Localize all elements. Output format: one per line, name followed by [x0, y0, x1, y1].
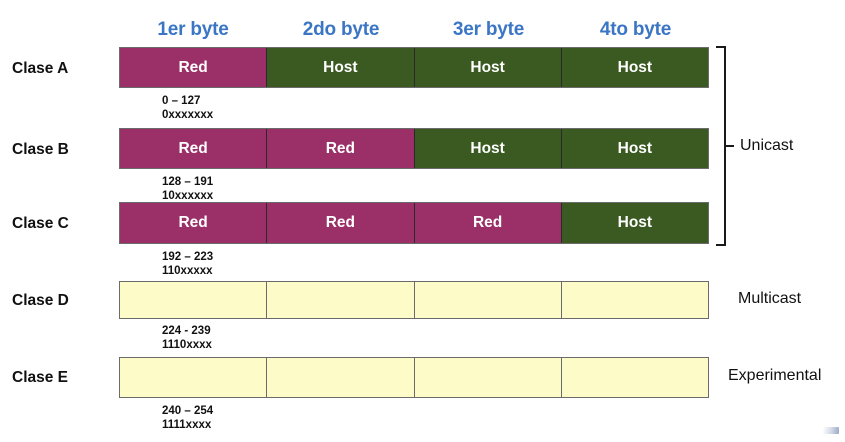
segment-a-3: Host [415, 48, 562, 87]
category-label-unicast: Unicast [740, 137, 793, 155]
range-a: 0 – 127 [162, 94, 213, 108]
class-label-a: Clase A [12, 60, 112, 78]
class-bar-d [119, 281, 709, 319]
binary-prefix-b: 10xxxxxx [162, 189, 213, 203]
bracket-tick [725, 145, 734, 147]
segment-e-1 [120, 358, 267, 397]
corner-artifact [823, 427, 839, 434]
segment-c-3: Red [415, 203, 562, 243]
class-label-b: Clase B [12, 141, 112, 159]
segment-d-2 [267, 282, 414, 318]
segment-b-1: Red [120, 129, 267, 168]
segment-b-4: Host [562, 129, 708, 168]
class-label-d: Clase D [12, 292, 112, 310]
ip-address-class-diagram: 1er byte 2do byte 3er byte 4to byte Clas… [0, 0, 845, 442]
segment-e-4 [562, 358, 708, 397]
segment-c-2: Red [267, 203, 414, 243]
class-bar-b: Red Red Host Host [119, 128, 709, 169]
byte-header-1: 1er byte [119, 18, 267, 42]
range-d: 224 - 239 [162, 324, 212, 338]
range-e: 240 – 254 [162, 404, 213, 418]
segment-b-3: Host [415, 129, 562, 168]
range-note-d: 224 - 239 1110xxxx [162, 324, 212, 352]
segment-d-3 [415, 282, 562, 318]
range-note-e: 240 – 254 1111xxxx [162, 404, 213, 432]
class-bar-c: Red Red Red Host [119, 202, 709, 244]
segment-a-1: Red [120, 48, 267, 87]
range-note-a: 0 – 127 0xxxxxxx [162, 94, 213, 122]
segment-e-3 [415, 358, 562, 397]
bracket-arm-bottom [716, 244, 726, 246]
segment-c-4: Host [562, 203, 708, 243]
segment-d-1 [120, 282, 267, 318]
range-note-b: 128 – 191 10xxxxxx [162, 175, 213, 203]
class-label-e: Clase E [12, 369, 112, 387]
range-note-c: 192 – 223 110xxxxx [162, 250, 213, 278]
byte-header-2: 2do byte [267, 18, 415, 42]
range-c: 192 – 223 [162, 250, 213, 264]
byte-header-3: 3er byte [415, 18, 562, 42]
category-label-multicast: Multicast [738, 290, 801, 308]
segment-b-2: Red [267, 129, 414, 168]
binary-prefix-c: 110xxxxx [162, 264, 213, 278]
class-bar-a: Red Host Host Host [119, 47, 709, 88]
binary-prefix-a: 0xxxxxxx [162, 108, 213, 122]
category-label-experimental: Experimental [728, 367, 821, 385]
binary-prefix-e: 1111xxxx [162, 418, 213, 432]
segment-d-4 [562, 282, 708, 318]
byte-header-4: 4to byte [562, 18, 709, 42]
class-bar-e [119, 357, 709, 398]
binary-prefix-d: 1110xxxx [162, 338, 212, 352]
range-b: 128 – 191 [162, 175, 213, 189]
segment-e-2 [267, 358, 414, 397]
segment-a-2: Host [267, 48, 414, 87]
class-label-c: Clase C [12, 215, 112, 233]
segment-a-4: Host [562, 48, 708, 87]
segment-c-1: Red [120, 203, 267, 243]
unicast-bracket [716, 46, 730, 246]
